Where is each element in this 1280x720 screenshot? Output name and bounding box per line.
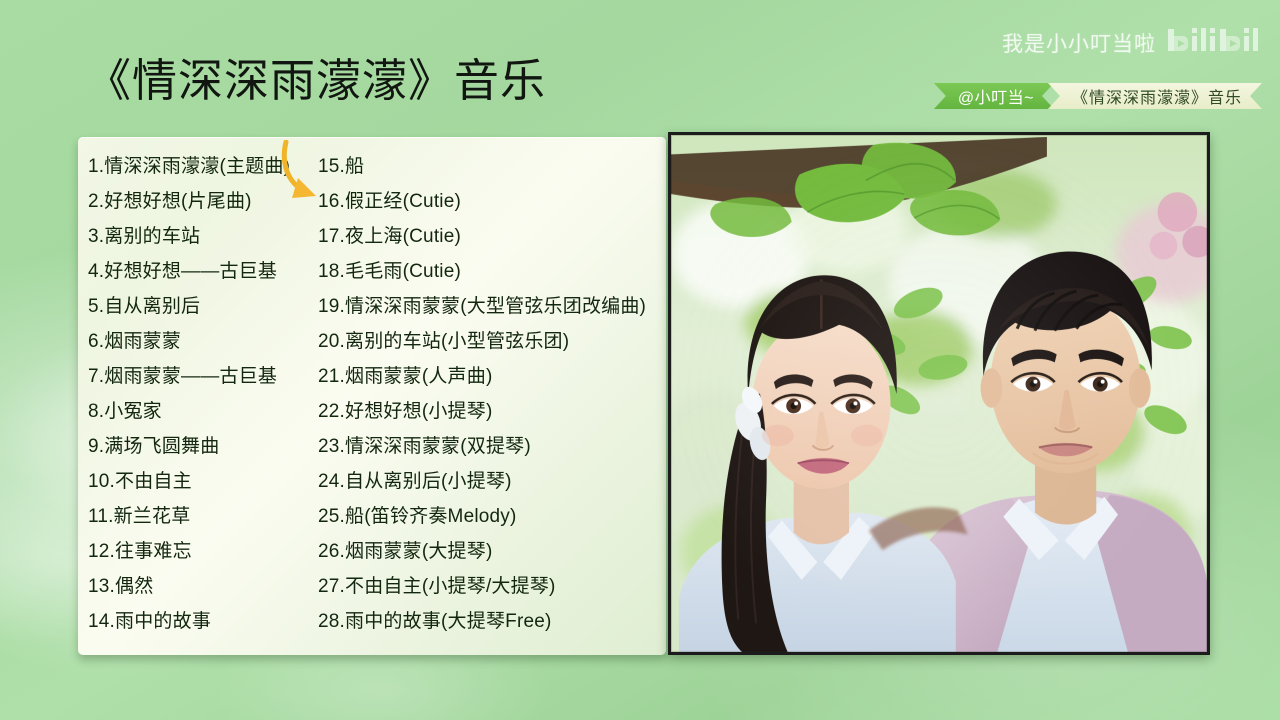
- list-item: 28.雨中的故事(大提琴Free): [318, 604, 663, 639]
- list-item: 1.情深深雨濛濛(主题曲): [88, 149, 318, 184]
- list-item: 9.满场飞圆舞曲: [88, 429, 318, 464]
- list-item: 10.不由自主: [88, 464, 318, 499]
- list-item: 21.烟雨蒙蒙(人声曲): [318, 359, 663, 394]
- song-list-columns: 1.情深深雨濛濛(主题曲) 2.好想好想(片尾曲) 3.离别的车站 4.好想好想…: [78, 137, 666, 655]
- list-item: 8.小冤家: [88, 394, 318, 429]
- tag-ribbons: @小叮当~ 《情深深雨濛濛》音乐: [934, 83, 1262, 109]
- list-item: 26.烟雨蒙蒙(大提琴): [318, 534, 663, 569]
- list-item: 27.不由自主(小提琴/大提琴): [318, 569, 663, 604]
- list-item: 20.离别的车站(小型管弦乐团): [318, 324, 663, 359]
- channel-watermark: 我是小小叮当啦: [1002, 26, 1262, 60]
- tag-series-title: 《情深深雨濛濛》音乐: [1048, 83, 1262, 109]
- list-item: 13.偶然: [88, 569, 318, 604]
- list-item: 12.往事难忘: [88, 534, 318, 569]
- list-item: 25.船(笛铃齐奏Melody): [318, 499, 663, 534]
- list-item: 19.情深深雨蒙蒙(大型管弦乐团改编曲): [318, 289, 663, 324]
- list-item: 3.离别的车站: [88, 219, 318, 254]
- list-item: 5.自从离别后: [88, 289, 318, 324]
- drama-still-photo: [668, 132, 1210, 655]
- photo-content: [671, 135, 1207, 652]
- list-item: 22.好想好想(小提琴): [318, 394, 663, 429]
- song-list-right-column: 15.船 16.假正经(Cutie) 17.夜上海(Cutie) 18.毛毛雨(…: [318, 149, 663, 639]
- list-item: 11.新兰花草: [88, 499, 318, 534]
- list-item: 23.情深深雨蒙蒙(双提琴): [318, 429, 663, 464]
- list-item: 16.假正经(Cutie): [318, 184, 663, 219]
- list-item: 15.船: [318, 149, 663, 184]
- song-list-panel: 1.情深深雨濛濛(主题曲) 2.好想好想(片尾曲) 3.离别的车站 4.好想好想…: [78, 137, 666, 655]
- list-item: 17.夜上海(Cutie): [318, 219, 663, 254]
- watermark-username: 我是小小叮当啦: [1002, 28, 1156, 58]
- list-item: 7.烟雨蒙蒙——古巨基: [88, 359, 318, 394]
- list-item: 2.好想好想(片尾曲): [88, 184, 318, 219]
- list-item: 6.烟雨蒙蒙: [88, 324, 318, 359]
- list-item: 4.好想好想——古巨基: [88, 254, 318, 289]
- list-item: 24.自从离别后(小提琴): [318, 464, 663, 499]
- page-title: 《情深深雨濛濛》音乐: [86, 58, 546, 103]
- song-list-left-column: 1.情深深雨濛濛(主题曲) 2.好想好想(片尾曲) 3.离别的车站 4.好想好想…: [88, 149, 318, 639]
- bilibili-logo-icon: [1166, 26, 1262, 60]
- list-item: 14.雨中的故事: [88, 604, 318, 639]
- tag-author-handle: @小叮当~: [934, 83, 1054, 109]
- video-frame: 《情深深雨濛濛》音乐 我是小小叮当啦: [0, 0, 1280, 720]
- list-item: 18.毛毛雨(Cutie): [318, 254, 663, 289]
